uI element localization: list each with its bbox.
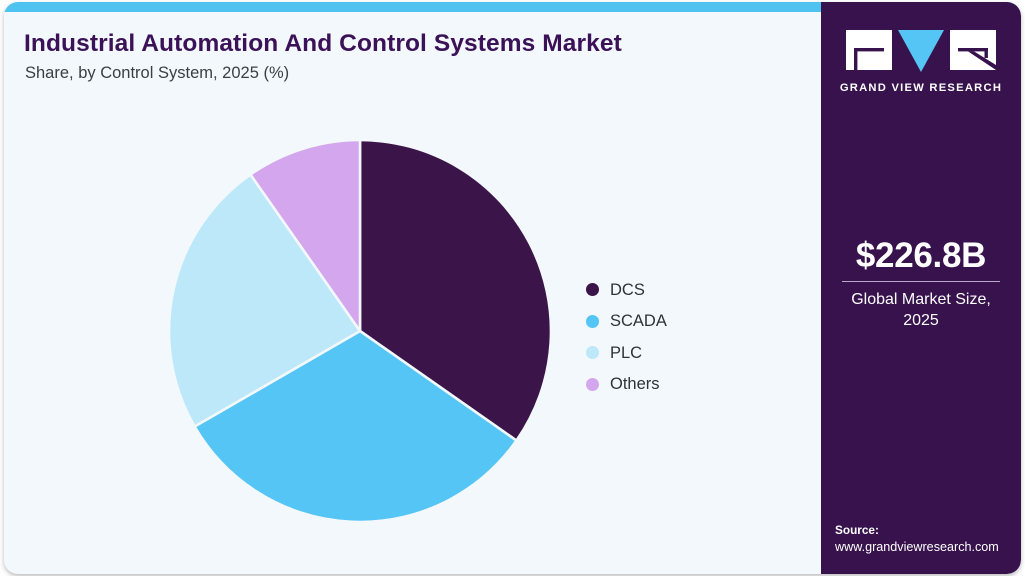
legend-item-scada[interactable]: SCADA <box>586 306 776 338</box>
brand-name: GRAND VIEW RESEARCH <box>821 82 1021 94</box>
market-size-caption: Global Market Size, 2025 <box>821 289 1021 332</box>
chart-panel: Industrial Automation And Control System… <box>4 12 821 574</box>
legend-item-dcs[interactable]: DCS <box>586 274 776 306</box>
brand-panel: GRAND VIEW RESEARCH $226.8B Global Marke… <box>821 2 1021 574</box>
source-url[interactable]: www.grandviewresearch.com <box>835 539 1021 556</box>
legend-swatch-dcs-icon <box>586 283 599 296</box>
legend-swatch-plc-icon <box>586 346 599 359</box>
market-size-value: $226.8B <box>821 236 1021 275</box>
legend-swatch-scada-icon <box>586 315 599 328</box>
infographic-root: Industrial Automation And Control System… <box>0 0 1025 576</box>
brand-logo: GRAND VIEW RESEARCH <box>821 28 1021 94</box>
legend-item-others[interactable]: Others <box>586 369 776 401</box>
legend-label: SCADA <box>610 313 667 330</box>
page-title: Industrial Automation And Control System… <box>24 30 784 58</box>
legend-item-plc[interactable]: PLC <box>586 337 776 369</box>
gvr-letter-r-icon <box>950 30 996 70</box>
legend-label: Others <box>610 376 660 393</box>
gvr-logo-icon <box>846 28 996 74</box>
market-size-stat: $226.8B Global Market Size, 2025 <box>821 236 1021 332</box>
source-label: Source: <box>835 522 1021 539</box>
pie-chart-svg <box>164 135 556 527</box>
gvr-triangle-v-icon <box>898 30 944 72</box>
legend-label: PLC <box>610 345 642 362</box>
source-block: Source: www.grandviewresearch.com <box>835 522 1021 556</box>
legend-label: DCS <box>610 282 645 299</box>
stat-divider <box>842 281 1000 282</box>
legend-swatch-others-icon <box>586 378 599 391</box>
pie-chart <box>164 135 556 527</box>
page-subtitle: Share, by Control System, 2025 (%) <box>25 64 785 83</box>
gvr-letter-g-icon <box>846 30 892 70</box>
chart-legend: DCSSCADAPLCOthers <box>586 274 776 400</box>
infographic-card: Industrial Automation And Control System… <box>4 2 1021 574</box>
